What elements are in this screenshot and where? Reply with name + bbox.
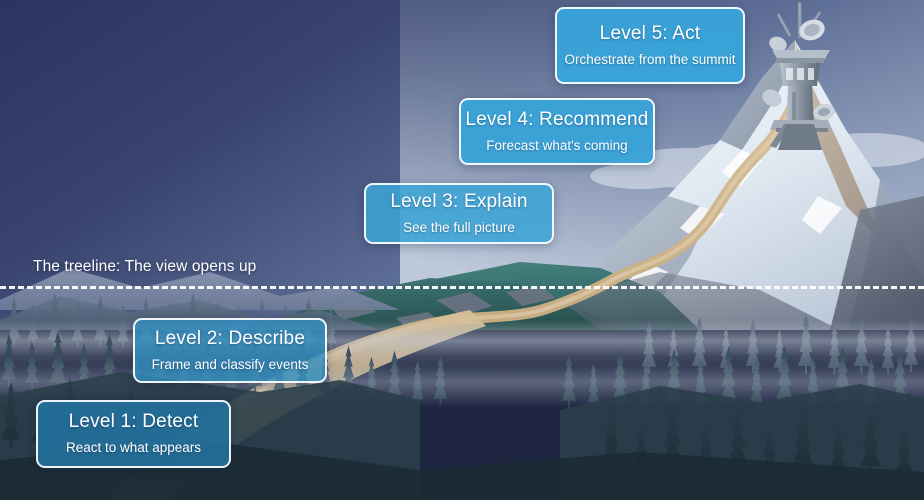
treeline-label: The treeline: The view opens up bbox=[33, 258, 256, 276]
level-card-4[interactable]: Level 4: Recommend Forecast what's comin… bbox=[459, 98, 655, 165]
level-2-title: Level 2: Describe bbox=[155, 328, 305, 350]
level-2-subtitle: Frame and classify events bbox=[152, 357, 309, 373]
level-5-title: Level 5: Act bbox=[600, 23, 701, 45]
level-3-subtitle: See the full picture bbox=[403, 220, 515, 236]
level-card-5[interactable]: Level 5: Act Orchestrate from the summit bbox=[555, 7, 745, 84]
level-card-2[interactable]: Level 2: Describe Frame and classify eve… bbox=[133, 318, 327, 383]
level-4-subtitle: Forecast what's coming bbox=[486, 138, 627, 154]
treeline-divider bbox=[0, 286, 924, 289]
level-card-3[interactable]: Level 3: Explain See the full picture bbox=[364, 183, 554, 244]
level-4-title: Level 4: Recommend bbox=[465, 109, 648, 131]
level-5-subtitle: Orchestrate from the summit bbox=[564, 52, 735, 68]
level-3-title: Level 3: Explain bbox=[390, 191, 527, 213]
level-1-title: Level 1: Detect bbox=[69, 411, 199, 433]
level-1-subtitle: React to what appears bbox=[66, 440, 201, 456]
maturity-ladder-illustration: The treeline: The view opens up Level 5:… bbox=[0, 0, 924, 500]
level-card-1[interactable]: Level 1: Detect React to what appears bbox=[36, 400, 231, 468]
